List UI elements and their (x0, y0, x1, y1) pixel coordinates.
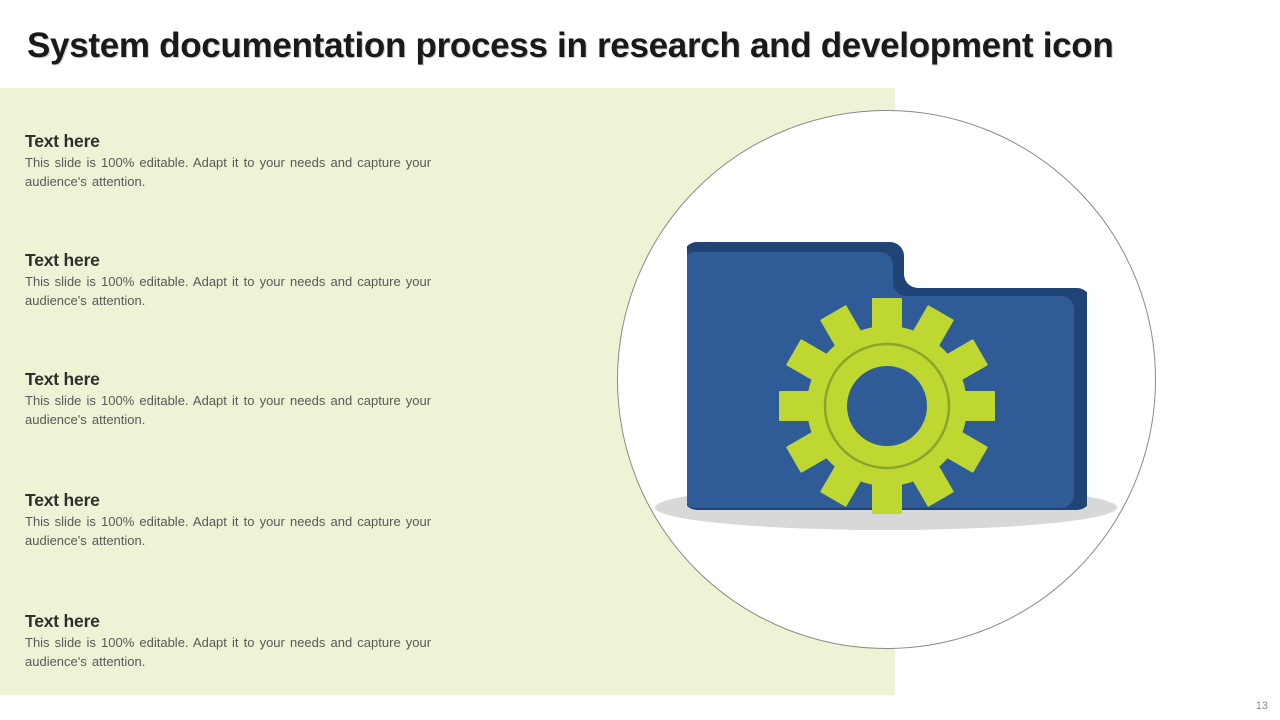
text-block-3: Text here This slide is 100% editable. A… (25, 369, 480, 430)
text-block-heading: Text here (25, 250, 480, 270)
folder-gear-illustration (617, 110, 1158, 651)
page-number: 13 (1256, 700, 1268, 712)
text-block-body: This slide is 100% editable. Adapt it to… (25, 273, 480, 311)
text-block-2: Text here This slide is 100% editable. A… (25, 250, 480, 311)
text-block-heading: Text here (25, 131, 480, 151)
text-block-4: Text here This slide is 100% editable. A… (25, 490, 480, 551)
slide-canvas: System documentation process in research… (0, 0, 1280, 720)
text-block-heading: Text here (25, 611, 480, 631)
text-block-heading: Text here (25, 369, 480, 389)
folder-gear-icon (687, 230, 1087, 520)
text-block-body: This slide is 100% editable. Adapt it to… (25, 513, 480, 551)
text-block-heading: Text here (25, 490, 480, 510)
text-block-body: This slide is 100% editable. Adapt it to… (25, 634, 480, 672)
text-block-body: This slide is 100% editable. Adapt it to… (25, 392, 480, 430)
gear-center-hole (847, 366, 927, 446)
text-block-body: This slide is 100% editable. Adapt it to… (25, 154, 480, 192)
text-block-1: Text here This slide is 100% editable. A… (25, 131, 480, 192)
page-title: System documentation process in research… (27, 26, 1257, 66)
text-block-5: Text here This slide is 100% editable. A… (25, 611, 480, 672)
